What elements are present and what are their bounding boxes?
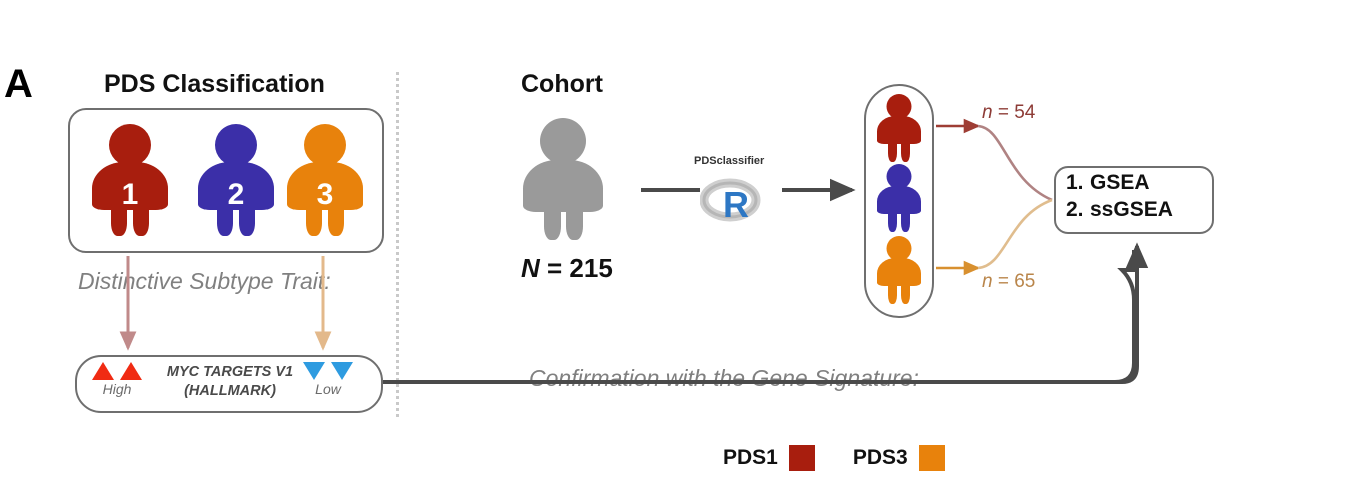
triangle-up-icon bbox=[120, 362, 142, 380]
n-prefix: n bbox=[982, 271, 993, 292]
figure-body bbox=[877, 258, 921, 286]
legend-label-pds1: PDS1 bbox=[723, 446, 778, 470]
svg-text:R: R bbox=[723, 184, 749, 223]
figure-head bbox=[215, 124, 257, 166]
n-value: = 65 bbox=[993, 271, 1036, 292]
figure-leg-right bbox=[566, 206, 583, 240]
down-triangle-pair bbox=[303, 362, 353, 380]
analysis-item-1: 1.GSEA bbox=[1066, 170, 1208, 197]
gene-set-name: MYC TARGETS V1 (HALLMARK) bbox=[150, 363, 310, 400]
high-indicator: High bbox=[92, 362, 142, 397]
analysis-item-2: 2.ssGSEA bbox=[1066, 197, 1208, 224]
triangle-up-icon bbox=[92, 362, 114, 380]
figure-head bbox=[304, 124, 346, 166]
figure-leg-right bbox=[901, 140, 910, 162]
triangle-down-icon bbox=[303, 362, 325, 380]
subtype-figure-3: 3 bbox=[285, 124, 365, 236]
cohort-n-prefix: N bbox=[521, 253, 540, 283]
figure-head bbox=[540, 118, 586, 164]
n-value: = 54 bbox=[993, 102, 1036, 123]
legend-swatch-pds1 bbox=[789, 445, 815, 471]
triangle-down-icon bbox=[331, 362, 353, 380]
cohort-figure bbox=[521, 118, 605, 240]
r-logo-icon: R bbox=[700, 175, 764, 223]
cohort-size-label: N = 215 bbox=[521, 253, 613, 284]
confirmation-connector-path bbox=[383, 246, 1137, 382]
n-label-pds3: n = 65 bbox=[982, 271, 1035, 293]
figure-leg-right bbox=[901, 282, 910, 304]
cohort-heading: Cohort bbox=[521, 70, 603, 99]
gene-set-line-2: (HALLMARK) bbox=[150, 382, 310, 401]
high-caption: High bbox=[92, 381, 142, 397]
analysis-list: 1.GSEA 2.ssGSEA bbox=[1066, 170, 1208, 224]
classified-figure-pds2 bbox=[876, 164, 922, 232]
panel-letter: A bbox=[4, 62, 32, 107]
figure-leg-right bbox=[901, 210, 910, 232]
figure-panel-a: A PDS Classification Cohort 1 2 3 Distin… bbox=[0, 0, 1356, 491]
cohort-n-value: = 215 bbox=[540, 253, 613, 283]
section-divider bbox=[396, 72, 399, 417]
figure-number: 1 bbox=[90, 178, 170, 212]
low-indicator: Low bbox=[303, 362, 353, 397]
gene-set-line-1: MYC TARGETS V1 bbox=[150, 363, 310, 382]
analysis-item-2-label: ssGSEA bbox=[1090, 198, 1173, 221]
analysis-item-1-label: GSEA bbox=[1090, 171, 1150, 194]
figure-body bbox=[877, 116, 921, 144]
n-prefix: n bbox=[982, 102, 993, 123]
pds-classification-heading: PDS Classification bbox=[104, 70, 325, 99]
figure-head bbox=[109, 124, 151, 166]
low-caption: Low bbox=[303, 381, 353, 397]
figure-leg-left bbox=[888, 140, 897, 162]
classified-figure-pds3 bbox=[876, 236, 922, 304]
figure-number: 2 bbox=[196, 178, 276, 212]
confirmation-connector bbox=[383, 250, 1134, 382]
classified-figure-pds1 bbox=[876, 94, 922, 162]
distinctive-subtype-trait-label: Distinctive Subtype Trait: bbox=[78, 268, 331, 295]
pdsclassifier-label: PDSclassifier bbox=[694, 155, 764, 167]
up-triangle-pair bbox=[92, 362, 142, 380]
legend: PDS1 PDS3 bbox=[723, 445, 945, 471]
subtype-figure-1: 1 bbox=[90, 124, 170, 236]
legend-swatch-pds3 bbox=[919, 445, 945, 471]
figure-body bbox=[523, 160, 603, 212]
figure-leg-left bbox=[544, 206, 561, 240]
subtype-figure-2: 2 bbox=[196, 124, 276, 236]
figure-leg-left bbox=[888, 282, 897, 304]
analysis-item-1-number: 1. bbox=[1066, 170, 1090, 197]
n-label-pds1: n = 54 bbox=[982, 102, 1035, 124]
figure-number: 3 bbox=[285, 178, 365, 212]
confirmation-label: Confirmation with the Gene Signature: bbox=[523, 365, 925, 392]
pds1-branch-curve bbox=[978, 126, 1052, 200]
figure-body bbox=[877, 186, 921, 214]
figure-leg-left bbox=[888, 210, 897, 232]
analysis-item-2-number: 2. bbox=[1066, 197, 1090, 224]
legend-label-pds3: PDS3 bbox=[853, 446, 908, 470]
pds3-branch-curve bbox=[978, 200, 1052, 268]
